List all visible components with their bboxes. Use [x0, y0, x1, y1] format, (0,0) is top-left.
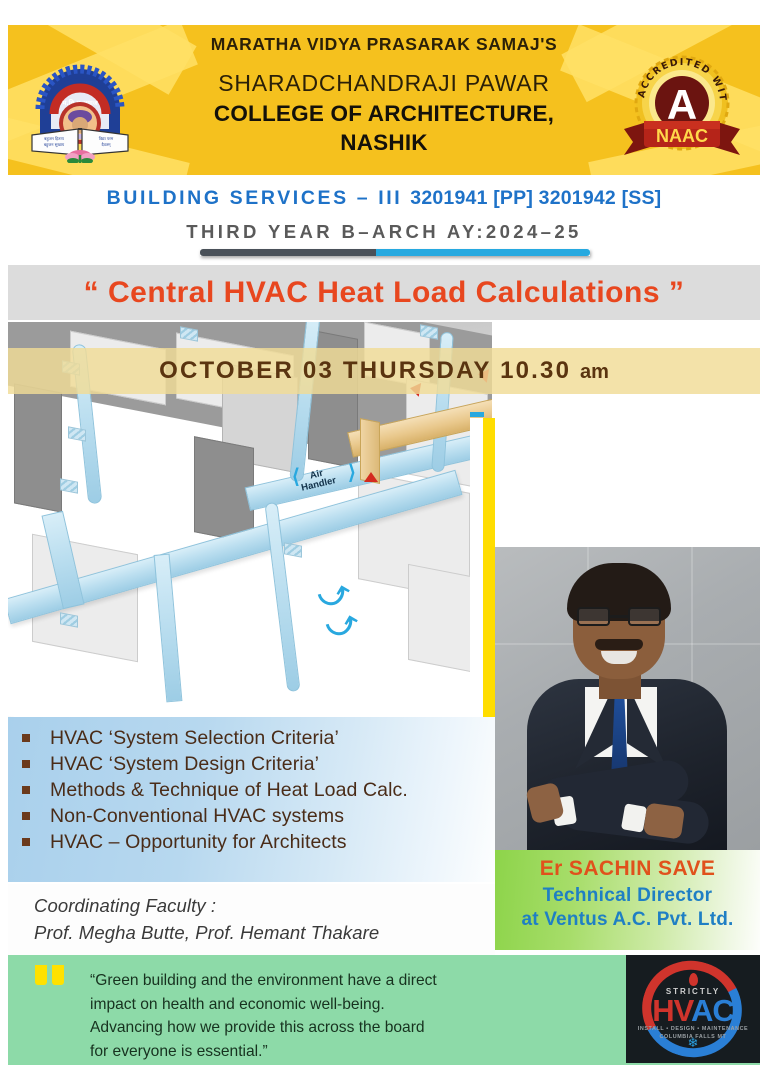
photo-hand	[643, 803, 685, 840]
topics-list: HVAC ‘System Selection Criteria’ HVAC ‘S…	[8, 717, 495, 882]
svg-text:विद्या परम: विद्या परम	[99, 136, 114, 141]
strictly-hvac-logo: STRICTLY HVAC INSTALL • DESIGN • MAINTEN…	[626, 955, 760, 1063]
logo-letter-c: C	[712, 993, 733, 1028]
photo-left-white-strip	[470, 418, 484, 718]
event-date: OCTOBER 03 THURSDAY	[159, 357, 491, 384]
bullet-square-icon	[22, 838, 30, 846]
logo-letter-a: A	[691, 993, 712, 1028]
header-text-block: MARATHA VIDYA PRASARAK SAMAJ'S SHARADCHA…	[138, 34, 630, 156]
photo-moustache	[595, 639, 643, 650]
course-info-block: BUILDING SERVICES – III 3201941 [PP] 320…	[8, 181, 760, 261]
logo-letter-h: H	[652, 993, 673, 1028]
speaker-name: Er SACHIN SAVE	[495, 857, 760, 881]
photo-left-blue-tick	[470, 412, 484, 417]
list-item-label: Methods & Technique of Heat Load Calc.	[50, 779, 408, 802]
quote-line: for everyone is essential.”	[90, 1040, 550, 1064]
photo-eyeglasses-icon	[577, 607, 661, 626]
quote-line: “Green building and the environment have…	[90, 969, 550, 993]
event-meridiem: am	[580, 361, 609, 383]
list-item-label: HVAC – Opportunity for Architects	[50, 831, 347, 854]
city-line: NASHIK	[138, 130, 630, 156]
date-text-row: OCTOBER 03 THURSDAY 10.30 am	[159, 357, 609, 385]
list-item-label: HVAC ‘System Selection Criteria’	[50, 727, 339, 750]
bullet-square-icon	[22, 760, 30, 768]
topic-band: “ Central HVAC Heat Load Calculations ”	[8, 265, 760, 320]
logo-letter-v: V	[674, 993, 691, 1028]
event-time: 10.30	[500, 357, 571, 384]
divider-rule-dark	[200, 249, 376, 256]
list-item: Non-Conventional HVAC systems	[22, 805, 495, 828]
poster-header: म.वि.प्र.समाज बहुजन हिताय बहुजन सुखाय वि…	[8, 25, 760, 175]
open-quote: “	[84, 276, 100, 309]
diagram-wall	[14, 383, 62, 512]
course-subject-row: BUILDING SERVICES – III 3201941 [PP] 320…	[8, 187, 760, 210]
course-subject: BUILDING SERVICES – III	[107, 187, 403, 209]
org-line: MARATHA VIDYA PRASARAK SAMAJ'S	[138, 34, 630, 55]
red-flow-arrow-icon	[364, 472, 378, 482]
list-item-label: Non-Conventional HVAC systems	[50, 805, 344, 828]
speaker-portrait	[495, 547, 760, 850]
course-codes: 3201941 [PP] 3201942 [SS]	[410, 187, 661, 209]
naac-label: NAAC	[656, 126, 708, 146]
event-poster: म.वि.प्र.समाज बहुजन हिताय बहुजन सुखाय वि…	[0, 0, 768, 1087]
bullet-square-icon	[22, 812, 30, 820]
list-item: Methods & Technique of Heat Load Calc.	[22, 779, 495, 802]
list-item: HVAC ‘System Design Criteria’	[22, 753, 495, 776]
coordinating-faculty-block: Coordinating Faculty : Prof. Megha Butte…	[8, 884, 495, 955]
quote-line: Advancing how we provide this across the…	[90, 1016, 550, 1040]
date-banner: OCTOBER 03 THURSDAY 10.30 am	[8, 348, 760, 394]
faculty-label: Coordinating Faculty :	[34, 892, 495, 919]
topic-title: Central HVAC Heat Load Calculations	[108, 276, 660, 309]
quotation-mark-icon	[35, 965, 64, 985]
bullet-square-icon	[22, 734, 30, 742]
mvp-samaj-emblem-icon: म.वि.प्र.समाज बहुजन हिताय बहुजन सुखाय वि…	[24, 43, 136, 163]
list-item: HVAC – Opportunity for Architects	[22, 831, 495, 854]
college-line: COLLEGE OF ARCHITECTURE,	[138, 101, 630, 127]
photo-left-yellow-strip	[483, 418, 495, 718]
faculty-names: Prof. Megha Butte, Prof. Hemant Thakare	[34, 919, 495, 946]
logo-main-text: HVAC	[626, 995, 760, 1026]
naac-a-grade-seal-icon: ACCREDITED WITH GRADE A NAAC	[620, 37, 744, 165]
course-year-line: THIRD YEAR B–ARCH AY:2024–25	[8, 221, 760, 243]
institute-name-line: SHARADCHANDRAJI PAWAR	[138, 70, 630, 97]
list-item: HVAC ‘System Selection Criteria’	[22, 727, 495, 750]
flame-icon	[689, 973, 698, 986]
naac-grade-letter: A	[667, 81, 697, 128]
list-item-label: HVAC ‘System Design Criteria’	[50, 753, 319, 776]
snowflake-icon: ❄	[626, 1035, 760, 1051]
divider-rule-blue	[376, 249, 591, 256]
bullet-square-icon	[22, 786, 30, 794]
speaker-organization: at Ventus A.C. Pvt. Ltd.	[495, 909, 760, 931]
speaker-info-panel: Er SACHIN SAVE Technical Director at Ven…	[495, 850, 760, 950]
speaker-role: Technical Director	[495, 885, 760, 907]
topic-title-row: “ Central HVAC Heat Load Calculations ”	[84, 276, 685, 310]
divider-rule	[200, 249, 590, 256]
quote-line: impact on health and economic well-being…	[90, 993, 550, 1017]
quote-text: “Green building and the environment have…	[90, 969, 550, 1064]
air-flow-chevron-icon: ⟩	[348, 460, 356, 485]
close-quote: ”	[669, 276, 685, 309]
logo-sub-line1: INSTALL • DESIGN • MAINTENANCE	[626, 1025, 760, 1033]
